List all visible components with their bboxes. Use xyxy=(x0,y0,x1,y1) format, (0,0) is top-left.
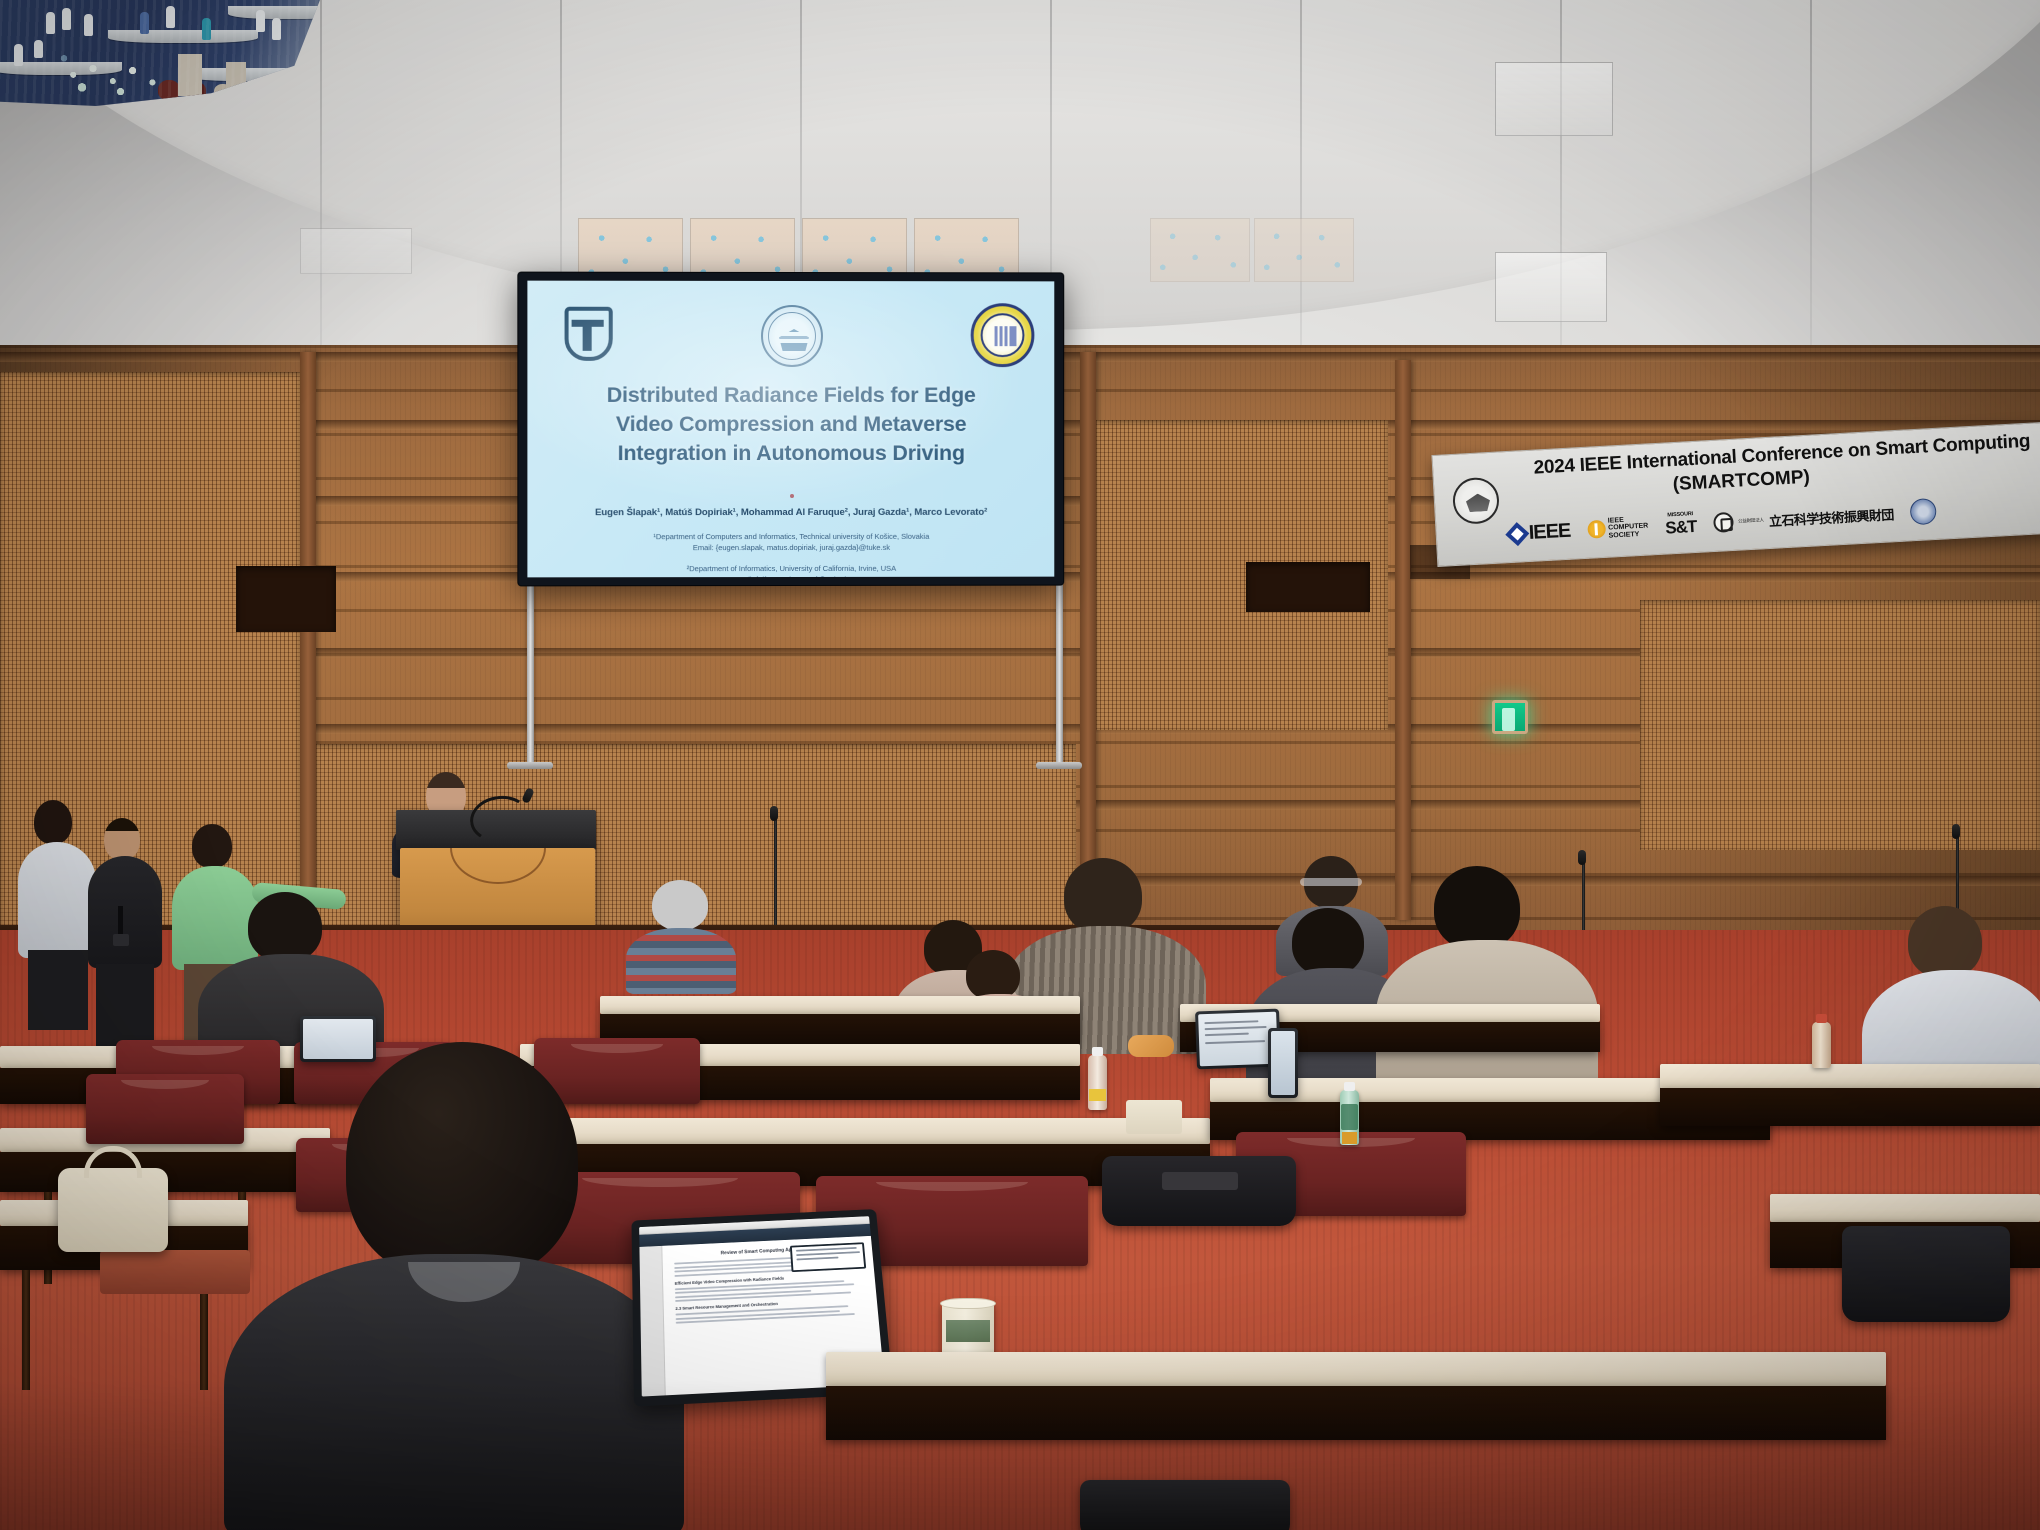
decorative-wall-tile xyxy=(1150,218,1250,282)
presentation-slide: Distributed Radiance Fields for Edge Vid… xyxy=(527,281,1054,578)
slide-affiliation-1: ¹Department of Computers and Informatics… xyxy=(541,531,1040,543)
floor-microphone xyxy=(1578,850,1586,865)
tateishi-seal-icon xyxy=(1713,512,1734,533)
nsf-logo xyxy=(1910,498,1937,525)
ieee-computer-society-logo: IEEE COMPUTER SOCIETY xyxy=(1587,515,1649,541)
slide-title: Distributed Radiance Fields for Edge Vid… xyxy=(549,381,1032,468)
st-label: S&T xyxy=(1665,517,1697,539)
tuke-shield-logo xyxy=(565,307,613,361)
tateishi-kanji-label: 立石科学技術振興財団 xyxy=(1768,504,1894,530)
water-bottle xyxy=(1088,1055,1107,1110)
backpack xyxy=(1842,1226,2010,1322)
slide-affiliation-2: ²Department of Informatics, University o… xyxy=(541,563,1040,575)
chair xyxy=(86,1074,244,1144)
decorative-wall-tile xyxy=(1254,218,1354,282)
slide-email-1: Email: {eugen.slapak, matus.dopiriak, ju… xyxy=(541,542,1040,554)
tateishi-foundation-logo: 公益財団法人 立石科学技術振興財団 xyxy=(1713,503,1895,533)
computer-society-circle-icon xyxy=(1587,520,1606,539)
ceiling-diffuser xyxy=(300,228,412,274)
green-tea-bottle xyxy=(1340,1090,1359,1145)
smartcomp-banner-seal xyxy=(1452,477,1500,525)
tateishi-kanji-small: 公益財団法人 xyxy=(1738,517,1764,524)
slide-email-2: Email: {alfaruqu, levorato}@uci.edu xyxy=(541,574,1040,578)
slide-affiliation-2-block: ²Department of Informatics, University o… xyxy=(541,563,1040,578)
chair-seat xyxy=(100,1250,250,1294)
screen-foot-left xyxy=(507,762,553,769)
smartcomp-seal xyxy=(761,305,823,367)
desk-row-far xyxy=(600,996,1080,1014)
slide-divider-dot xyxy=(790,494,794,498)
laptop-bag xyxy=(1102,1156,1296,1226)
missouri-st-logo: MISSOURI S&T xyxy=(1665,511,1697,539)
floor-microphone xyxy=(1952,824,1960,839)
laptop-audience-far-left xyxy=(300,1016,376,1062)
screen-foot-right xyxy=(1036,762,1082,769)
laptop-audience-mid xyxy=(1268,1028,1298,1098)
ceiling-diffuser xyxy=(1495,252,1607,322)
slide-title-line-3: Integration in Autonomous Driving xyxy=(549,439,1032,468)
mural-blossoms xyxy=(60,58,170,100)
conference-room-photo: Distributed Radiance Fields for Edge Vid… xyxy=(0,0,2040,1530)
laptop-popup-dialog xyxy=(790,1242,866,1272)
slide-title-line-1: Distributed Radiance Fields for Edge xyxy=(549,381,1032,410)
desk-foreground xyxy=(826,1352,1886,1386)
projection-screen: Distributed Radiance Fields for Edge Vid… xyxy=(518,273,1063,586)
drink-bottle xyxy=(1812,1022,1831,1068)
uc-irvine-seal xyxy=(971,303,1035,367)
desk-row-near-right xyxy=(1770,1194,2040,1222)
acoustic-mesh-panel xyxy=(1640,600,2040,850)
screen-stand-right xyxy=(1056,580,1063,765)
ieee-diamond-icon xyxy=(1505,522,1529,546)
exit-sign xyxy=(1492,700,1528,734)
floor-microphone xyxy=(770,806,778,821)
slide-title-line-2: Video Compression and Metaverse xyxy=(549,410,1032,439)
ceiling-diffuser xyxy=(1495,62,1613,136)
paper-cup-seated xyxy=(1126,1100,1182,1134)
desk-row-far-right-2 xyxy=(1660,1064,2040,1088)
pastry xyxy=(1128,1035,1174,1057)
wall-recess xyxy=(236,566,336,632)
chair xyxy=(534,1038,700,1104)
bag-foreground xyxy=(1080,1480,1290,1530)
wall-recess xyxy=(1246,562,1370,612)
slide-authors: Eugen Šlapak¹, Matúš Dopiriak¹, Mohammad… xyxy=(541,507,1040,518)
screen-stand-left xyxy=(527,580,534,765)
slide-affiliation-1-block: ¹Department of Computers and Informatics… xyxy=(541,531,1040,554)
ieee-label: IEEE xyxy=(1528,519,1571,544)
floor-microphone-stand xyxy=(774,818,777,928)
desk-row-center-2 xyxy=(470,1118,1210,1144)
ieee-logo: IEEE xyxy=(1508,519,1571,545)
computer-society-label: IEEE COMPUTER SOCIETY xyxy=(1608,515,1649,540)
handbag xyxy=(58,1168,168,1252)
